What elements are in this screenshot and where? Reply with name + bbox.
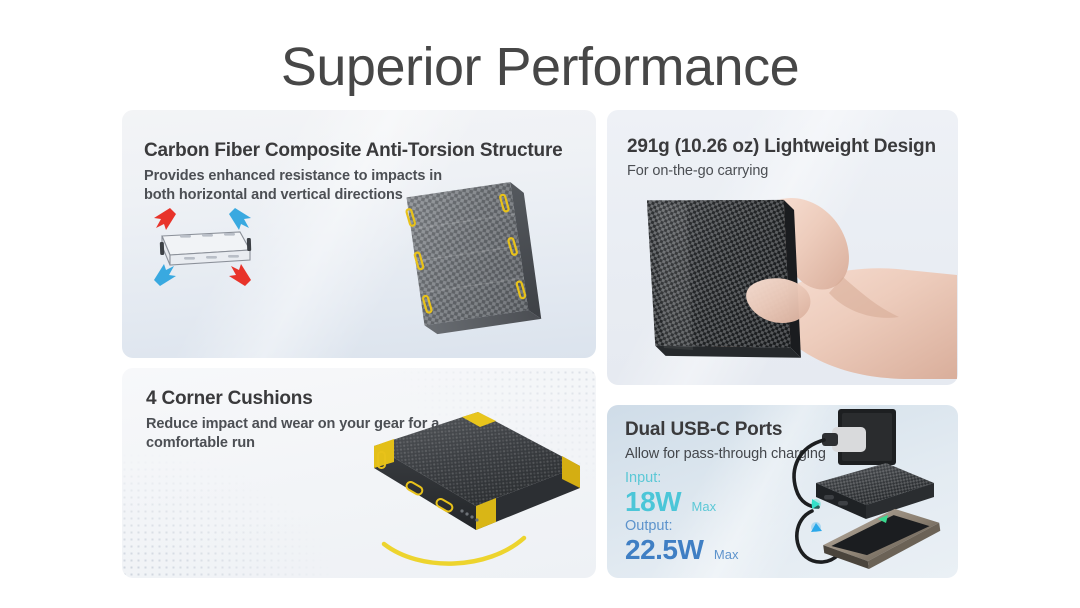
feature-panel-carbon-fiber: Carbon Fiber Composite Anti-Torsion Stru… bbox=[122, 110, 596, 358]
spec-input-label: Input: bbox=[625, 471, 716, 486]
torsion-arrow-bottom-left-blue bbox=[154, 264, 176, 286]
torsion-arrow-top-left-red bbox=[154, 208, 176, 230]
powerbank-body-4 bbox=[816, 463, 934, 519]
feature-panel-dual-usb-c: Dual USB-C Ports Allow for pass-through … bbox=[607, 405, 958, 578]
halftone-dots-bottom-left bbox=[122, 438, 329, 578]
panel-heading-dual-usb-c: Dual USB-C Ports bbox=[625, 419, 782, 441]
marketing-page: Superior Performance Carbon Fiber Compos… bbox=[0, 0, 1080, 608]
product-image-hand-holding-powerbank bbox=[647, 165, 957, 385]
panel-heading-corner-cushions: 4 Corner Cushions bbox=[146, 388, 313, 410]
spec-input: Input: 18W Max bbox=[625, 471, 716, 516]
torsion-arrow-bottom-right-red bbox=[229, 264, 251, 286]
spec-input-qualifier: Max bbox=[692, 499, 717, 514]
powerbank-body bbox=[374, 412, 580, 530]
page-title: Superior Performance bbox=[0, 38, 1080, 97]
anti-torsion-diagram bbox=[140, 202, 268, 288]
panel-heading-lightweight: 291g (10.26 oz) Lightweight Design bbox=[627, 136, 936, 158]
product-image-carbon-fiber-powerbank bbox=[380, 162, 590, 352]
bounce-arc-indicator bbox=[384, 538, 524, 564]
torsion-arrow-top-right-blue bbox=[229, 208, 251, 230]
spec-output-qualifier: Max bbox=[714, 547, 739, 562]
panel-heading-carbon-fiber: Carbon Fiber Composite Anti-Torsion Stru… bbox=[144, 140, 563, 162]
spec-output-label: Output: bbox=[625, 519, 738, 534]
product-image-pass-through-charging bbox=[782, 407, 958, 577]
spec-output-value: 22.5W bbox=[625, 534, 703, 565]
feature-panel-corner-cushions: 4 Corner Cushions Reduce impact and wear… bbox=[122, 368, 596, 578]
spec-output: Output: 22.5W Max bbox=[625, 519, 738, 564]
product-image-powerbank-corner-cushions bbox=[312, 406, 596, 571]
wall-charger-brick bbox=[822, 427, 866, 452]
powerbank-wireframe-icon bbox=[160, 232, 251, 265]
spec-input-value: 18W bbox=[625, 486, 681, 517]
feature-panel-lightweight: 291g (10.26 oz) Lightweight Design For o… bbox=[607, 110, 958, 385]
